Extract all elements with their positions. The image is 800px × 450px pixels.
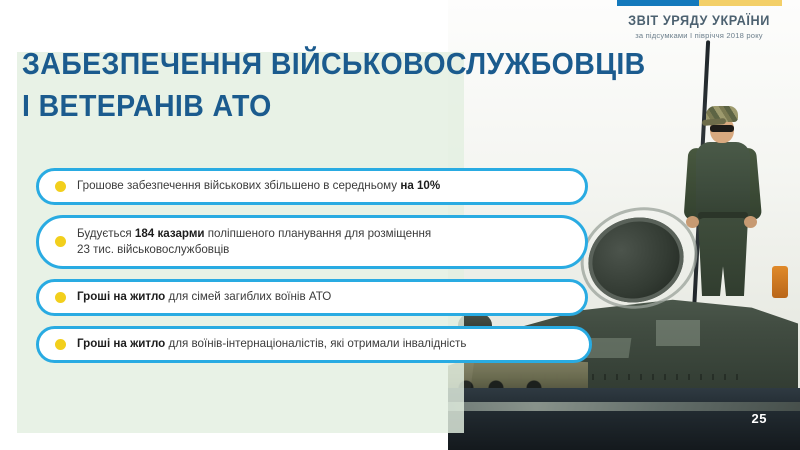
bullet-housing-internationalists[interactable]: Гроші на житло для воїнів-інтернаціоналі… bbox=[36, 326, 592, 363]
flag-blue-stripe bbox=[617, 0, 700, 6]
bullet-dot-icon bbox=[55, 292, 66, 303]
page-number: 25 bbox=[752, 411, 767, 426]
bullet-second-line: 23 тис. військовослужбовців bbox=[77, 243, 229, 256]
soldier-right-hand bbox=[744, 216, 757, 228]
bullet-pay-increase[interactable]: Грошове забезпечення військових збільшен… bbox=[36, 168, 588, 205]
ground-band bbox=[448, 388, 800, 450]
slide: ЗВІТ УРЯДУ УКРАЇНИ за підсумками I піврі… bbox=[0, 0, 800, 450]
page-title: ЗАБЕЗПЕЧЕННЯ ВІЙСЬКОВОСЛУЖБОВЦІВ І ВЕТЕР… bbox=[22, 43, 537, 127]
soldier-belt bbox=[698, 212, 748, 219]
report-subtitle: за підсумками I півріччя 2018 року bbox=[608, 31, 790, 40]
bullet-text: Гроші на житло для сімей загиблих воїнів… bbox=[77, 289, 331, 305]
bullet-highlight: на 10% bbox=[400, 179, 440, 192]
bullet-tail: для сімей загиблих воїнів АТО bbox=[165, 290, 331, 303]
bullet-lead: Грошове забезпечення військових збільшен… bbox=[77, 179, 400, 192]
bullet-highlight: 184 казарми bbox=[135, 227, 205, 240]
bullet-text: Гроші на житло для воїнів-інтернаціоналі… bbox=[77, 336, 466, 352]
vehicle-canister bbox=[772, 266, 788, 298]
bullet-highlight: Гроші на житло bbox=[77, 290, 165, 303]
bullet-tail: для воїнів-інтернаціоналістів, які отрим… bbox=[165, 337, 466, 350]
report-brand: ЗВІТ УРЯДУ УКРАЇНИ за підсумками I піврі… bbox=[608, 0, 790, 40]
soldier-legs bbox=[698, 218, 748, 296]
page-title-line-2: І ВЕТЕРАНІВ АТО bbox=[22, 85, 537, 127]
bullet-lead: Будується bbox=[77, 227, 135, 240]
bullet-dot-icon bbox=[55, 339, 66, 350]
report-title: ЗВІТ УРЯДУ УКРАЇНИ bbox=[613, 13, 784, 28]
bullet-tail: поліпшеного планування для розміщення bbox=[205, 227, 432, 240]
soldier-sunglasses bbox=[710, 125, 734, 132]
bullet-dot-icon bbox=[55, 236, 66, 247]
vehicle-panel-right bbox=[656, 320, 700, 346]
bullet-dot-icon bbox=[55, 181, 66, 192]
page-title-line-1: ЗАБЕЗПЕЧЕННЯ ВІЙСЬКОВОСЛУЖБОВЦІВ bbox=[22, 43, 537, 85]
ukraine-flag-bar bbox=[617, 0, 782, 6]
soldier-torso bbox=[696, 142, 750, 222]
bullet-list: Грошове забезпечення військових збільшен… bbox=[36, 168, 596, 373]
bullet-text: Грошове забезпечення військових збільшен… bbox=[77, 178, 440, 194]
bullet-housing-families[interactable]: Гроші на житло для сімей загиблих воїнів… bbox=[36, 279, 588, 316]
bullet-barracks[interactable]: Будується 184 казарми поліпшеного планув… bbox=[36, 215, 588, 269]
bullet-highlight: Гроші на житло bbox=[77, 337, 165, 350]
flag-yellow-stripe bbox=[699, 0, 782, 6]
bullet-text: Будується 184 казарми поліпшеного планув… bbox=[77, 226, 431, 258]
